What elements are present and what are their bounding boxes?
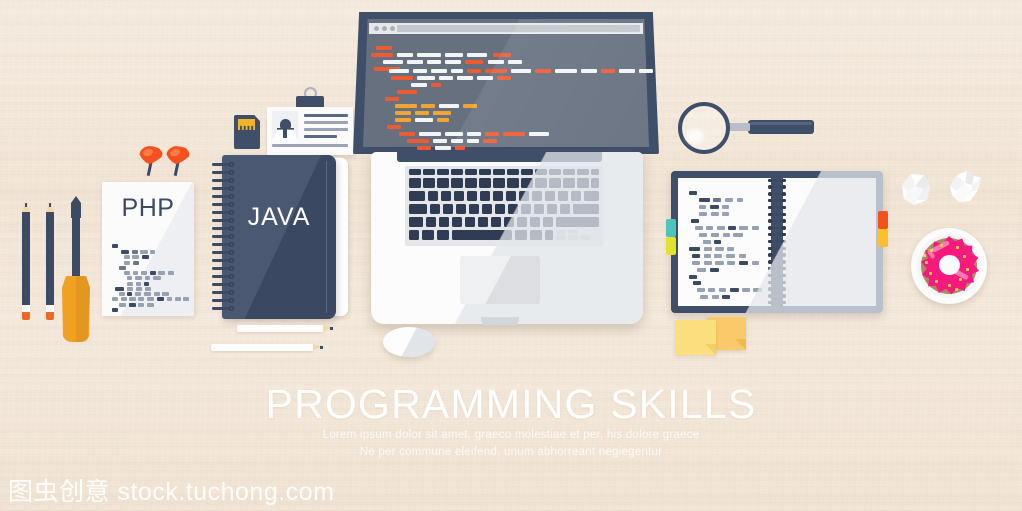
spiral-hole [229, 194, 234, 199]
cover-gloss [222, 155, 336, 319]
spiral-hole [229, 210, 234, 215]
text-line-segment [133, 271, 138, 275]
cover-spine-line [326, 161, 328, 313]
sprinkle [966, 268, 969, 271]
bookmark-tab-teal[interactable] [666, 219, 676, 237]
php-code-lines [112, 244, 188, 310]
text-line-segment [140, 250, 147, 254]
text-line-segment [121, 250, 130, 254]
pencil-lead-icon [25, 203, 27, 207]
text-line-segment [158, 271, 165, 275]
text-line-segment [124, 255, 130, 259]
magnifier-lens-icon [678, 102, 730, 154]
spiral-hole [229, 178, 234, 183]
watermark-url-text: stock.tuchong.com [117, 478, 334, 506]
spiral-hole [229, 282, 234, 287]
java-notebook[interactable]: JAVA [212, 155, 348, 321]
sd-card-contacts-icon [238, 119, 255, 130]
screwdriver-handle-shadow [76, 276, 90, 342]
donut-hole [939, 255, 960, 275]
badge-card [267, 107, 353, 155]
spiral-hole [229, 242, 234, 247]
text-line-segment [112, 308, 118, 312]
bookmark-tab-red[interactable] [878, 211, 888, 229]
spiral-hole [229, 266, 234, 271]
bookmark-tab-yellow-left[interactable] [666, 237, 676, 255]
avatar-tie [283, 128, 287, 138]
text-line-segment [168, 271, 174, 275]
sprinkle [955, 288, 958, 291]
spiral-hole [229, 250, 234, 255]
spiral-hole [229, 298, 234, 303]
text-line-segment [132, 250, 138, 254]
open-notebook[interactable] [671, 171, 883, 313]
spiral-hole [229, 258, 234, 263]
text-line-segment [142, 255, 149, 259]
spiral-hole [229, 290, 234, 295]
spiral-hole [229, 234, 234, 239]
sprinkle [959, 278, 962, 281]
magnifying-glass[interactable] [678, 102, 818, 158]
subtitle-line-1: Lorem ipsum dolor sit amet, graeco moles… [0, 427, 1022, 444]
text-line-segment [145, 287, 151, 291]
notebook-spiral-binding [212, 163, 234, 313]
text-line-segment [138, 303, 144, 307]
subtitle-line-2: Ne per commune eleifend, unum abhorreant… [0, 444, 1022, 461]
text-line-segment [136, 282, 141, 286]
text-line-segment [129, 303, 136, 307]
sprinkle [940, 244, 943, 247]
pencil-ferrule [22, 305, 30, 312]
crumpled-paper-icon [948, 170, 982, 203]
handle-highlight [750, 122, 812, 125]
text-line-segment [127, 287, 134, 291]
screen-glare [363, 19, 649, 147]
pencil-eraser [46, 312, 54, 320]
text-line-segment [124, 271, 131, 275]
laptop-lid [353, 12, 659, 154]
sticky-note-fold [735, 339, 746, 350]
text-line-segment [144, 292, 151, 296]
text-line-segment [162, 292, 169, 296]
computer-mouse[interactable] [383, 327, 435, 357]
text-line-segment [141, 271, 147, 275]
sticky-note-fold [705, 344, 716, 355]
text-line-segment [132, 255, 139, 259]
pencil-body [22, 212, 30, 305]
text-line-segment [145, 276, 150, 280]
crumpled-paper-icon [899, 172, 932, 206]
text-line-segment [175, 297, 181, 301]
pencil-lead-icon [320, 346, 323, 349]
push-pin-1[interactable] [139, 146, 163, 176]
text-line-segment [112, 244, 118, 248]
magnifier-handle [748, 120, 814, 134]
crumpled-paper-2 [948, 170, 982, 203]
spiral-hole [229, 162, 234, 167]
text-line-segment [153, 276, 162, 280]
php-paper-sheet[interactable]: PHP [102, 182, 194, 316]
text-line-segment [136, 287, 143, 291]
badge-text-line [304, 121, 348, 124]
text-line-segment [150, 271, 156, 275]
screwdriver [62, 196, 92, 346]
laptop-base [371, 152, 643, 324]
bookmark-tab-yellow-right[interactable] [878, 229, 888, 247]
sprinkle [948, 284, 951, 287]
text-line-segment [121, 297, 127, 301]
sprinkle [929, 272, 932, 275]
sprinkle [923, 254, 926, 257]
spiral-hole [229, 170, 234, 175]
laptop-front-notch [481, 317, 519, 325]
white-pencil-2 [211, 344, 313, 351]
page-title: PROGRAMMING SKILLS [0, 381, 1022, 428]
spiral-hole [229, 202, 234, 207]
id-badge[interactable] [267, 96, 355, 158]
sprinkle [930, 249, 933, 252]
text-line-segment [115, 287, 124, 291]
text-line-segment [147, 303, 154, 307]
text-line-segment [147, 297, 154, 301]
pencil-eraser [22, 312, 30, 320]
php-label: PHP [102, 194, 194, 223]
white-pencil-1 [237, 325, 323, 332]
pencil-1 [22, 203, 30, 320]
text-line-segment [133, 261, 139, 265]
text-line-segment [129, 297, 136, 301]
sprinkle [935, 280, 938, 283]
screwdriver-shaft [72, 214, 80, 282]
pencil-lead-icon [330, 327, 333, 330]
sprinkle [956, 246, 959, 249]
push-pin-2[interactable] [166, 146, 190, 176]
laptop-trackpad[interactable] [460, 256, 540, 304]
text-line-segment [135, 292, 141, 296]
text-line-segment [144, 282, 149, 286]
badge-text-line [304, 128, 348, 131]
text-line-segment [183, 297, 189, 301]
watermark-cn-text: 图虫创意 [8, 477, 110, 506]
text-line-segment [124, 261, 131, 265]
spiral-hole [229, 274, 234, 279]
text-line-segment [135, 276, 142, 280]
spiral-hole [229, 186, 234, 191]
watermark: 图虫创意 stock.tuchong.com [8, 472, 334, 508]
laptop[interactable] [353, 12, 663, 332]
pencil-body [46, 212, 54, 305]
badge-text-line [304, 114, 348, 117]
spiral-hole [229, 306, 234, 311]
text-line-segment [119, 292, 125, 296]
spiral-hole [229, 218, 234, 223]
crumpled-paper-1 [899, 172, 932, 206]
sticky-note-front[interactable] [675, 320, 716, 355]
spiral-hole [229, 226, 234, 231]
text-line-segment [112, 297, 118, 301]
notebook-cover [222, 155, 336, 319]
sd-card[interactable] [234, 115, 260, 149]
sprinkle [925, 261, 928, 264]
pencil-2 [46, 203, 54, 320]
pencil-ferrule [46, 305, 54, 312]
badge-text-line [304, 135, 337, 138]
sprinkle [963, 255, 966, 258]
text-line-segment [138, 297, 144, 301]
badge-text-line [272, 144, 348, 147]
text-line-segment [127, 276, 133, 280]
magnifier-neck [728, 123, 750, 131]
text-line-segment [119, 303, 126, 307]
java-label: JAVA [222, 203, 336, 232]
badge-avatar [272, 111, 298, 138]
text-line-segment [150, 250, 155, 254]
lens-highlight [686, 129, 704, 144]
mouse-shading [383, 327, 435, 357]
text-line-segment [157, 297, 164, 301]
notebook-page-gloss [671, 171, 883, 313]
text-line-segment [127, 292, 132, 296]
text-line-segment [119, 266, 126, 270]
trackpad-gloss [460, 256, 540, 304]
text-line-segment [167, 297, 172, 301]
text-line-segment [154, 292, 160, 296]
text-line-segment [127, 282, 134, 286]
pencil-lead-icon [49, 203, 51, 207]
plate [911, 228, 987, 304]
